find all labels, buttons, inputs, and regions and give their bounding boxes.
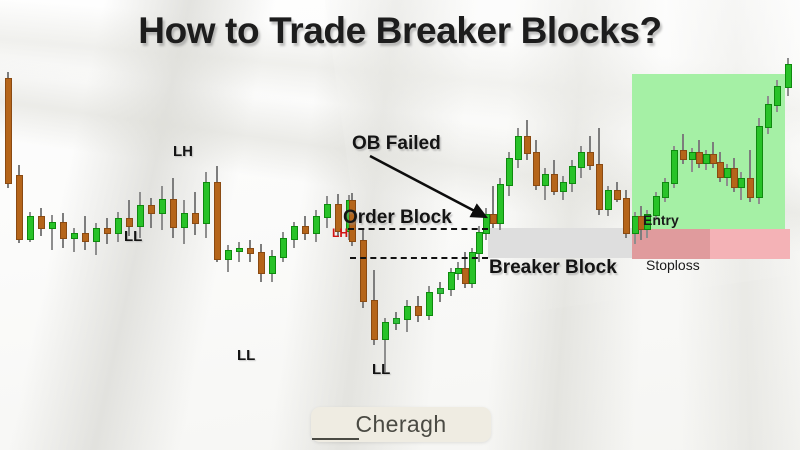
candle-body [291,226,298,240]
candlestick [717,152,724,182]
candlestick [455,262,462,280]
label-breaker-block: Breaker Block [489,257,617,279]
candlestick [415,296,422,322]
candle-body [724,168,731,178]
candlestick [696,140,703,168]
candle-body [587,152,594,166]
candlestick [258,244,265,282]
candle-body [5,78,12,184]
candle-body [27,216,34,240]
candlestick [38,208,45,236]
candle-body [104,228,111,234]
candlestick [497,178,504,230]
candlestick [448,268,455,296]
candlestick [5,72,12,188]
candle-body [731,168,738,188]
candle-body [765,104,772,128]
candle-body [483,214,490,234]
watermark-text: Cheragh [355,411,446,438]
candle-body [236,248,243,252]
candlestick [437,282,444,302]
candle-body [662,182,669,198]
candlestick [247,240,254,262]
candle-wick [73,228,75,252]
candle-body [82,233,89,242]
candle-body [60,222,67,239]
candle-body [426,292,433,316]
candle-body [515,136,522,160]
order-block-lower-dashed-line [350,257,488,259]
candle-body [605,190,612,210]
candle-body [448,272,455,290]
candle-body [137,205,144,227]
candle-body [371,300,378,340]
candle-body [490,214,497,224]
candlestick [236,242,243,262]
watermark-badge: Cheragh [311,407,491,442]
candle-body [437,288,444,294]
candlestick [16,165,23,243]
candle-body [404,306,411,320]
candlestick [774,80,781,112]
candlestick [291,222,298,248]
candlestick [483,208,490,240]
candle-body [214,182,221,260]
candlestick [27,212,34,242]
candle-body [560,182,567,192]
candlestick [404,300,411,332]
candlestick [393,312,400,330]
candle-body [225,250,232,260]
candlestick [747,150,754,202]
candlestick [82,216,89,250]
candle-body [542,174,549,186]
candlestick [533,140,540,190]
candle-body [455,268,462,274]
candle-body [393,318,400,324]
candlestick [596,128,603,215]
candlestick [680,134,687,164]
candle-body [324,204,331,218]
candle-body [93,228,100,242]
candlestick [181,200,188,244]
candle-body [247,248,254,254]
candle-body [497,184,504,224]
candle-body [551,174,558,192]
candlestick [731,158,738,192]
candle-body [476,232,483,254]
candle-body [524,136,531,154]
infographic-root: How to Trade Breaker Blocks? LL LH LL LL… [0,0,800,450]
candle-body [203,182,210,224]
label-entry: Entry [643,212,679,228]
candle-body [533,152,540,186]
candle-body [415,306,422,316]
candle-body [49,222,56,229]
candlestick [192,192,199,235]
candlestick [542,168,549,200]
candlestick [724,164,731,186]
candle-body [710,154,717,164]
candlestick [605,186,612,216]
candle-body [689,152,696,160]
candlestick [662,178,669,202]
candlestick [93,223,100,255]
candlestick [560,176,567,200]
candlestick [170,178,177,238]
candle-body [38,216,45,229]
candlestick [587,136,594,170]
candlestick [506,152,513,196]
candlestick [71,228,78,252]
candlestick [671,146,678,188]
candlestick [280,232,287,262]
candlestick [203,172,210,238]
candlestick [689,148,696,172]
candlestick [738,172,745,200]
candle-body [115,218,122,234]
candlestick [360,228,367,308]
candle-body [614,190,621,200]
candlestick [225,245,232,272]
candlestick [469,248,476,288]
candlestick [765,96,772,134]
candlestick [623,190,630,238]
candlestick [60,213,67,248]
candlestick [104,218,111,244]
page-title: How to Trade Breaker Blocks? [0,10,800,52]
candlestick [515,128,522,168]
candle-wick [51,215,53,250]
candle-body [16,175,23,240]
candlestick [756,118,763,204]
candlestick [371,270,378,345]
label-stoploss: Stoploss [646,257,700,273]
candle-body [269,256,276,274]
candle-body [680,150,687,160]
candlestick [214,166,221,262]
candle-body [148,205,155,214]
label-order-block: Order Block [343,207,452,229]
candlestick [115,212,122,242]
candlestick [148,198,155,228]
candle-body [578,152,585,168]
candlestick [703,150,710,170]
candle-body [280,238,287,258]
candlestick [569,160,576,192]
label-ll-2: LL [237,347,255,364]
candle-body [756,126,763,198]
candle-wick [238,242,240,262]
candle-body [623,198,630,234]
candlestick [710,142,717,168]
label-ll-3: LL [372,361,390,378]
candle-body [126,218,133,227]
candlestick [490,186,497,228]
candlestick [551,160,558,195]
candlestick [785,58,792,96]
candle-body [696,152,703,164]
candlestick [426,286,433,320]
candle-body [671,150,678,184]
candlestick [159,186,166,230]
label-lh-1: LH [173,143,193,160]
candle-body [313,216,320,234]
candle-body [170,199,177,228]
candle-body [717,162,724,178]
candle-body [159,199,166,214]
label-ob-failed: OB Failed [352,133,441,155]
candlestick [324,196,331,228]
candle-body [258,252,265,274]
candlestick [313,210,320,242]
label-ll-1: LL [124,228,142,245]
candle-body [738,178,745,188]
candle-body [596,164,603,210]
candle-body [360,240,367,302]
candle-body [181,213,188,228]
candlestick [578,146,585,178]
candle-body [774,86,781,106]
candle-body [569,166,576,184]
candle-body [192,213,199,224]
candle-body [506,158,513,186]
watermark-underline [312,438,359,440]
candle-body [462,268,469,284]
candlestick [614,182,621,202]
candlestick [269,250,276,282]
candle-body [703,154,710,164]
candle-body [785,64,792,88]
candle-body [382,322,389,340]
candlestick [524,120,531,160]
candle-body [71,233,78,239]
candlestick [49,215,56,250]
candle-body [747,178,754,198]
candle-body [302,226,309,234]
candlestick [302,216,309,240]
